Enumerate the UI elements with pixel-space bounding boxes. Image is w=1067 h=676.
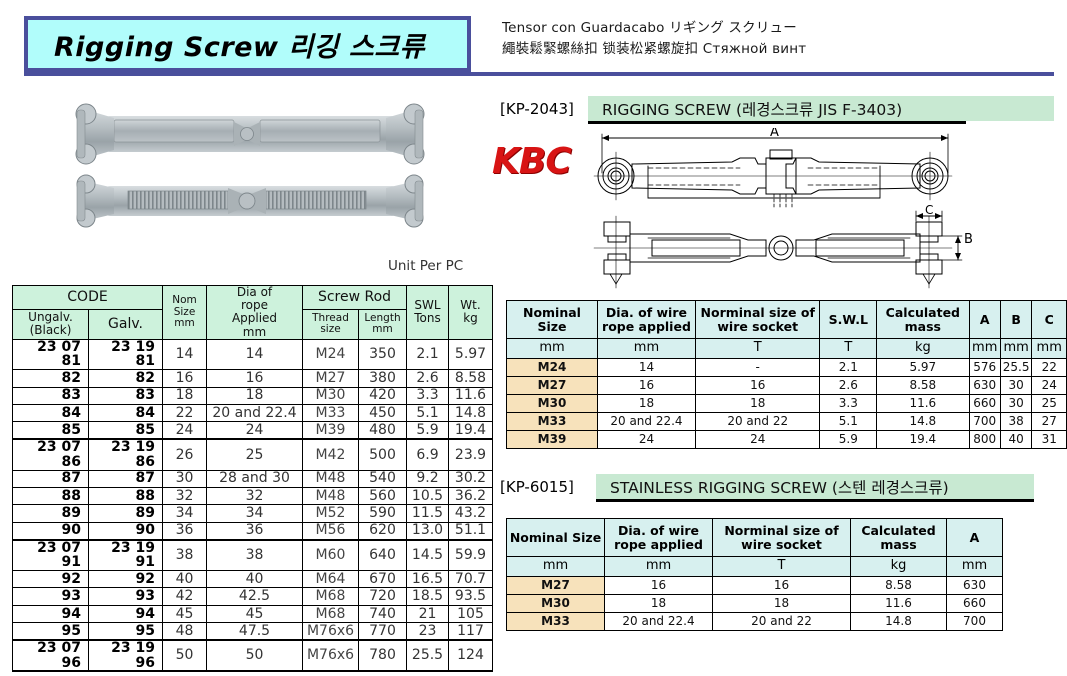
cell-thread-size: M24 (303, 339, 359, 369)
cell-weight: 43.2 (449, 505, 493, 522)
dim-a-label: A (770, 128, 779, 140)
cell-c: 27 (1032, 413, 1067, 431)
cell-swl: 2.1 (820, 359, 877, 377)
cell-mass: 11.6 (877, 395, 969, 413)
cell-galv-code: 94 (89, 605, 163, 622)
cell-swl: 5.9 (407, 422, 449, 439)
cell-weight: 117 (449, 623, 493, 640)
kbc-brand-logo: KBC (492, 141, 571, 182)
table-row: 87873028 and 30M485409.230.2 (13, 470, 493, 487)
th-nom-l3: mm (166, 318, 203, 330)
cell-nominal: M27 (507, 377, 598, 395)
cell-mass: 19.4 (877, 431, 969, 449)
unit-cell-2: T (695, 339, 820, 359)
th-dia-l3: Applied (210, 312, 299, 325)
cell-ungalv-code: 94 (13, 605, 89, 622)
t6015-th-socket: Norminal size of wire socket (713, 519, 851, 557)
cell-galv-code: 87 (89, 470, 163, 487)
unit-cell-0: mm (507, 339, 598, 359)
t6015-header-row: Nominal Size Dia. of wire rope applied N… (507, 519, 1003, 557)
th-thread-l2: size (306, 324, 355, 336)
cell-weight: 5.97 (449, 339, 493, 369)
cell-ungalv-code: 83 (13, 387, 89, 404)
th-dia-rope: Dia of rope Applied mm (207, 286, 303, 340)
table-row: M3320 and 22.420 and 2214.8700 (507, 613, 1003, 631)
cell-galv-code: 90 (89, 522, 163, 539)
table-row: 95954847.5M76x677023117 (13, 623, 493, 640)
dim-c-label: C (925, 203, 933, 217)
table-row: 23 07 9123 19 913838M6064014.559.9 (13, 540, 493, 571)
cell-nom-size: 38 (163, 540, 207, 571)
kp-2043-rule (588, 121, 966, 124)
unit-cell-5: mm (969, 339, 1000, 359)
cell-nom-size: 32 (163, 487, 207, 504)
cell-nom-size: 22 (163, 404, 207, 421)
table-row: 92924040M6467016.570.7 (13, 571, 493, 588)
cell-weight: 105 (449, 605, 493, 622)
cell-dia-rope: 36 (207, 522, 303, 539)
cell-c: 25 (1032, 395, 1067, 413)
t2043-th-mass-l2: mass (878, 320, 967, 334)
kp-2043-spec-table: Nominal Size Dia. of wire rope applied N… (506, 300, 1067, 449)
t6015-body: M2716168.58630M30181811.6660M3320 and 22… (507, 577, 1003, 631)
unit-cell-3: T (820, 339, 877, 359)
cell-swl: 13.0 (407, 522, 449, 539)
th-wt: Wt. kg (449, 286, 493, 340)
cell-length: 640 (359, 540, 407, 571)
cell-weight: 70.7 (449, 571, 493, 588)
cell-thread-size: M42 (303, 439, 359, 470)
t2043-th-dia-l1: Dia. of wire (599, 306, 694, 320)
cell-length: 560 (359, 487, 407, 504)
th-screw-rod: Screw Rod (303, 286, 407, 310)
cell-dia: 16 (597, 377, 695, 395)
t2043-th-a: A (969, 301, 1000, 339)
th-nom-size: Nom Size mm (163, 286, 207, 340)
cell-b: 30 (1000, 377, 1032, 395)
cell-thread-size: M60 (303, 540, 359, 571)
cell-thread-size: M27 (303, 370, 359, 387)
cell-weight: 8.58 (449, 370, 493, 387)
unit-cell-7: mm (1032, 339, 1067, 359)
cell-weight: 30.2 (449, 470, 493, 487)
unit-cell-3: kg (851, 557, 947, 577)
cell-dia: 18 (597, 395, 695, 413)
cell-nominal: M33 (507, 613, 605, 631)
cell-socket: 18 (713, 595, 851, 613)
cell-socket: 16 (713, 577, 851, 595)
cell-mass: 11.6 (851, 595, 947, 613)
kp-2043-code: [KP-2043] (500, 100, 574, 118)
t2043-th-socket-l2: wire socket (697, 320, 819, 334)
t2043-th-swl-l1: S.W.L (821, 313, 875, 327)
th-swl-l2: Tons (410, 312, 445, 325)
table-row: M3320 and 22.420 and 225.114.87003827 (507, 413, 1067, 431)
cell-nominal: M30 (507, 395, 598, 413)
cell-thread-size: M76x6 (303, 623, 359, 640)
cell-swl: 21 (407, 605, 449, 622)
unit-cell-4: kg (877, 339, 969, 359)
table-row: M2716168.58630 (507, 577, 1003, 595)
cell-length: 770 (359, 623, 407, 640)
t6015-units-row: mmmmTkgmm (507, 557, 1003, 577)
cell-socket: 16 (695, 377, 820, 395)
cell-dia: 20 and 22.4 (605, 613, 713, 631)
t2043-th-mass: Calculated mass (877, 301, 969, 339)
page-title: Rigging Screw 리깅 스크류 (28, 25, 425, 64)
cell-nominal: M27 (507, 577, 605, 595)
table-row: 23 07 8123 19 811414M243502.15.97 (13, 339, 493, 369)
cell-a: 576 (969, 359, 1000, 377)
t2043-th-nominal-l1: Nominal Size (508, 306, 596, 334)
cell-dia: 20 and 22.4 (597, 413, 695, 431)
cell-thread-size: M76x6 (303, 640, 359, 671)
product-photo (44, 92, 454, 252)
cell-ungalv-code: 95 (13, 623, 89, 640)
left-table-head: CODE Nom Size mm Dia of rope Applied mm … (13, 286, 493, 340)
t6015-th-dia: Dia. of wire rope applied (605, 519, 713, 557)
cell-c: 24 (1032, 377, 1067, 395)
cell-length: 720 (359, 588, 407, 605)
cell-length: 590 (359, 505, 407, 522)
cell-dia-rope: 24 (207, 422, 303, 439)
t6015-th-nominal-l1: Nominal Size (508, 531, 603, 545)
cell-galv-code: 89 (89, 505, 163, 522)
t2043-th-dia-l2: rope applied (599, 320, 694, 334)
cell-dia-rope: 42.5 (207, 588, 303, 605)
cell-thread-size: M68 (303, 605, 359, 622)
t2043-th-dia: Dia. of wire rope applied (597, 301, 695, 339)
cell-galv-code: 93 (89, 588, 163, 605)
cell-weight: 36.2 (449, 487, 493, 504)
t2043-header-row: Nominal Size Dia. of wire rope applied N… (507, 301, 1067, 339)
cell-swl: 2.1 (407, 339, 449, 369)
cell-dia: 14 (597, 359, 695, 377)
cell-a: 660 (969, 395, 1000, 413)
table-row: M2716162.68.586303024 (507, 377, 1067, 395)
cell-swl: 6.9 (407, 439, 449, 470)
cell-c: 22 (1032, 359, 1067, 377)
cell-galv-code: 82 (89, 370, 163, 387)
t6015-th-a: A (947, 519, 1003, 557)
product-photo-svg (44, 92, 454, 252)
page-title-banner: Rigging Screw 리깅 스크류 (24, 16, 471, 72)
cell-weight: 19.4 (449, 422, 493, 439)
table-row: M3924245.919.48004031 (507, 431, 1067, 449)
cell-dia-rope: 50 (207, 640, 303, 671)
unit-cell-1: mm (597, 339, 695, 359)
cell-nominal: M24 (507, 359, 598, 377)
cell-galv-code: 92 (89, 571, 163, 588)
cell-length: 480 (359, 422, 407, 439)
cell-dia-rope: 16 (207, 370, 303, 387)
th-code: CODE (13, 286, 163, 310)
cell-length: 500 (359, 439, 407, 470)
t2043-body: M2414-2.15.9757625.522M2716162.68.586303… (507, 359, 1067, 449)
cell-dia-rope: 18 (207, 387, 303, 404)
cell-length: 420 (359, 387, 407, 404)
cell-length: 450 (359, 404, 407, 421)
cell-length: 780 (359, 640, 407, 671)
cell-mass: 5.97 (877, 359, 969, 377)
unit-cell-2: T (713, 557, 851, 577)
table-row: M2414-2.15.9757625.522 (507, 359, 1067, 377)
cell-galv-code: 83 (89, 387, 163, 404)
title-underline-rule (24, 72, 1054, 76)
table-row: 89893434M5259011.543.2 (13, 505, 493, 522)
cell-socket: 18 (695, 395, 820, 413)
cell-swl: 18.5 (407, 588, 449, 605)
table-row: 83831818M304203.311.6 (13, 387, 493, 404)
cell-b: 40 (1000, 431, 1032, 449)
cell-length: 670 (359, 571, 407, 588)
cell-swl: 14.5 (407, 540, 449, 571)
t2043-th-nominal: Nominal Size (507, 301, 598, 339)
t2043-th-mass-l1: Calculated (878, 306, 967, 320)
left-table-body: 23 07 8123 19 811414M243502.15.978282161… (13, 339, 493, 671)
cell-nom-size: 36 (163, 522, 207, 539)
cell-dia-rope: 40 (207, 571, 303, 588)
cell-swl: 9.2 (407, 470, 449, 487)
t6015-th-mass-l2: mass (852, 538, 945, 552)
cell-weight: 23.9 (449, 439, 493, 470)
cell-ungalv-code: 23 07 91 (13, 540, 89, 571)
table-row: M30181811.6660 (507, 595, 1003, 613)
cell-galv-code: 23 19 86 (89, 439, 163, 470)
cell-swl: 10.5 (407, 487, 449, 504)
cell-b: 30 (1000, 395, 1032, 413)
cell-ungalv-code: 23 07 96 (13, 640, 89, 671)
th-thread-size: Thread size (303, 309, 359, 339)
table-row: M3018183.311.66603025 (507, 395, 1067, 413)
unit-per-pc-note: Unit Per PC (388, 258, 463, 274)
cell-swl: 16.5 (407, 571, 449, 588)
cell-nom-size: 42 (163, 588, 207, 605)
t6015-th-dia-l1: Dia. of wire (606, 524, 711, 538)
cell-a: 630 (969, 377, 1000, 395)
cell-socket: 24 (695, 431, 820, 449)
cell-swl: 23 (407, 623, 449, 640)
cell-mass: 8.58 (851, 577, 947, 595)
cell-a: 700 (969, 413, 1000, 431)
cell-nom-size: 34 (163, 505, 207, 522)
cell-thread-size: M56 (303, 522, 359, 539)
cell-length: 350 (359, 339, 407, 369)
cell-nominal: M39 (507, 431, 598, 449)
cell-nom-size: 24 (163, 422, 207, 439)
cell-dia-rope: 28 and 30 (207, 470, 303, 487)
cell-a: 800 (969, 431, 1000, 449)
cell-ungalv-code: 87 (13, 470, 89, 487)
cell-mass: 14.8 (877, 413, 969, 431)
cell-ungalv-code: 85 (13, 422, 89, 439)
cell-swl: 11.5 (407, 505, 449, 522)
th-ungalv: Ungalv. (Black) (13, 309, 89, 339)
cell-b: 25.5 (1000, 359, 1032, 377)
t6015-th-socket-l1: Norminal size of (714, 524, 849, 538)
table-row: 94944545M6874021105 (13, 605, 493, 622)
cell-thread-size: M48 (303, 487, 359, 504)
cell-swl: 5.1 (820, 413, 877, 431)
cell-weight: 124 (449, 640, 493, 671)
cell-swl: 3.3 (407, 387, 449, 404)
unit-cell-0: mm (507, 557, 605, 577)
cell-nominal: M33 (507, 413, 598, 431)
cell-weight: 51.1 (449, 522, 493, 539)
cell-galv-code: 88 (89, 487, 163, 504)
cell-ungalv-code: 90 (13, 522, 89, 539)
kp-2043-title-bar: RIGGING SCREW (레경스크류 JIS F-3403) (588, 96, 1054, 121)
cell-ungalv-code: 23 07 86 (13, 439, 89, 470)
technical-drawing-2043: A B C (580, 128, 1058, 290)
cell-mass: 14.8 (851, 613, 947, 631)
th-galv: Galv. (89, 309, 163, 339)
t2043-th-socket: Norminal size of wire socket (695, 301, 820, 339)
cell-weight: 11.6 (449, 387, 493, 404)
cell-swl: 3.3 (820, 395, 877, 413)
cell-dia: 16 (605, 577, 713, 595)
cell-ungalv-code: 23 07 81 (13, 339, 89, 369)
cell-swl: 2.6 (407, 370, 449, 387)
kp-6015-title-bar: STAINLESS RIGGING SCREW (스텐 레경스크류) (596, 474, 1034, 499)
table-row: 90903636M5662013.051.1 (13, 522, 493, 539)
table-row: 85852424M394805.919.4 (13, 422, 493, 439)
t6015-th-mass: Calculated mass (851, 519, 947, 557)
cell-galv-code: 23 19 81 (89, 339, 163, 369)
cell-dia-rope: 32 (207, 487, 303, 504)
cell-weight: 14.8 (449, 404, 493, 421)
cell-nom-size: 50 (163, 640, 207, 671)
cell-dia-rope: 34 (207, 505, 303, 522)
cell-thread-size: M68 (303, 588, 359, 605)
subtitle-line-2: 繩裝鬆緊螺絲扣 锁装松紧螺旋扣 Стяжной винт (502, 39, 922, 60)
th-nom-l1: Nom (166, 295, 203, 307)
cell-swl: 25.5 (407, 640, 449, 671)
subtitle-line-1: Tensor con Guardacabo リギング スクリュー (502, 18, 922, 39)
cell-c: 31 (1032, 431, 1067, 449)
cell-nom-size: 30 (163, 470, 207, 487)
cell-socket: 20 and 22 (713, 613, 851, 631)
t6015-th-nominal: Nominal Size (507, 519, 605, 557)
cell-length: 380 (359, 370, 407, 387)
cell-a: 630 (947, 577, 1003, 595)
t2043-th-socket-l1: Norminal size of (697, 306, 819, 320)
kp-6015-title: STAINLESS RIGGING SCREW (스텐 레경스크류) (610, 476, 949, 498)
cell-thread-size: M64 (303, 571, 359, 588)
cell-galv-code: 95 (89, 623, 163, 640)
table-row: 82821616M273802.68.58 (13, 370, 493, 387)
unit-cell-6: mm (1000, 339, 1032, 359)
table-row: 84842220 and 22.4M334505.114.8 (13, 404, 493, 421)
cell-thread-size: M52 (303, 505, 359, 522)
t2043-head: Nominal Size Dia. of wire rope applied N… (507, 301, 1067, 359)
cell-galv-code: 85 (89, 422, 163, 439)
table-row: 23 07 9623 19 965050M76x678025.5124 (13, 640, 493, 671)
cell-weight: 93.5 (449, 588, 493, 605)
code-specification-table: CODE Nom Size mm Dia of rope Applied mm … (12, 285, 493, 672)
cell-galv-code: 23 19 91 (89, 540, 163, 571)
th-wt-l2: kg (452, 312, 489, 325)
cell-nom-size: 14 (163, 339, 207, 369)
cell-nom-size: 16 (163, 370, 207, 387)
cell-length: 540 (359, 470, 407, 487)
t2043-th-c: C (1032, 301, 1067, 339)
t2043-th-b: B (1000, 301, 1032, 339)
th-length: Length mm (359, 309, 407, 339)
cell-galv-code: 84 (89, 404, 163, 421)
cell-socket: 20 and 22 (695, 413, 820, 431)
cell-nom-size: 26 (163, 439, 207, 470)
cell-thread-size: M39 (303, 422, 359, 439)
kp-6015-spec-table: Nominal Size Dia. of wire rope applied N… (506, 518, 1003, 631)
cell-nom-size: 45 (163, 605, 207, 622)
t6015-th-mass-l1: Calculated (852, 524, 945, 538)
t6015-th-dia-l2: rope applied (606, 538, 711, 552)
cell-ungalv-code: 93 (13, 588, 89, 605)
cell-weight: 59.9 (449, 540, 493, 571)
cell-socket: - (695, 359, 820, 377)
cell-dia-rope: 25 (207, 439, 303, 470)
cell-dia-rope: 14 (207, 339, 303, 369)
cell-galv-code: 23 19 96 (89, 640, 163, 671)
table-row: 23 07 8623 19 862625M425006.923.9 (13, 439, 493, 470)
cell-ungalv-code: 88 (13, 487, 89, 504)
cell-swl: 2.6 (820, 377, 877, 395)
t2043-th-swl: S.W.L (820, 301, 877, 339)
cell-a: 660 (947, 595, 1003, 613)
cell-dia-rope: 38 (207, 540, 303, 571)
cell-nom-size: 40 (163, 571, 207, 588)
t6015-head: Nominal Size Dia. of wire rope applied N… (507, 519, 1003, 577)
cell-dia: 24 (597, 431, 695, 449)
cell-dia-rope: 47.5 (207, 623, 303, 640)
cell-thread-size: M33 (303, 404, 359, 421)
cell-thread-size: M30 (303, 387, 359, 404)
cell-dia-rope: 45 (207, 605, 303, 622)
multilingual-subtitle: Tensor con Guardacabo リギング スクリュー 繩裝鬆緊螺絲扣… (502, 18, 922, 60)
cell-ungalv-code: 92 (13, 571, 89, 588)
kp-6015-code: [KP-6015] (500, 478, 574, 496)
cell-length: 740 (359, 605, 407, 622)
cell-ungalv-code: 89 (13, 505, 89, 522)
cell-a: 700 (947, 613, 1003, 631)
cell-nominal: M30 (507, 595, 605, 613)
cell-ungalv-code: 82 (13, 370, 89, 387)
cell-mass: 8.58 (877, 377, 969, 395)
kp-6015-rule (596, 499, 1034, 502)
th-length-l2: mm (362, 324, 403, 336)
kp-2043-title: RIGGING SCREW (레경스크류 JIS F-3403) (602, 98, 902, 120)
cell-thread-size: M48 (303, 470, 359, 487)
cell-dia: 18 (605, 595, 713, 613)
th-dia-l4: mm (210, 326, 299, 339)
th-swl: SWL Tons (407, 286, 449, 340)
table-row: 88883232M4856010.536.2 (13, 487, 493, 504)
t2043-units-row: mmmmTTkgmmmmmm (507, 339, 1067, 359)
technical-drawing-svg: A B C (580, 128, 1058, 290)
cell-ungalv-code: 84 (13, 404, 89, 421)
cell-b: 38 (1000, 413, 1032, 431)
unit-cell-1: mm (605, 557, 713, 577)
cell-swl: 5.1 (407, 404, 449, 421)
dim-b-label: B (964, 232, 973, 247)
cell-nom-size: 48 (163, 623, 207, 640)
cell-dia-rope: 20 and 22.4 (207, 404, 303, 421)
cell-nom-size: 18 (163, 387, 207, 404)
t6015-th-socket-l2: wire socket (714, 538, 849, 552)
cell-swl: 5.9 (820, 431, 877, 449)
cell-length: 620 (359, 522, 407, 539)
